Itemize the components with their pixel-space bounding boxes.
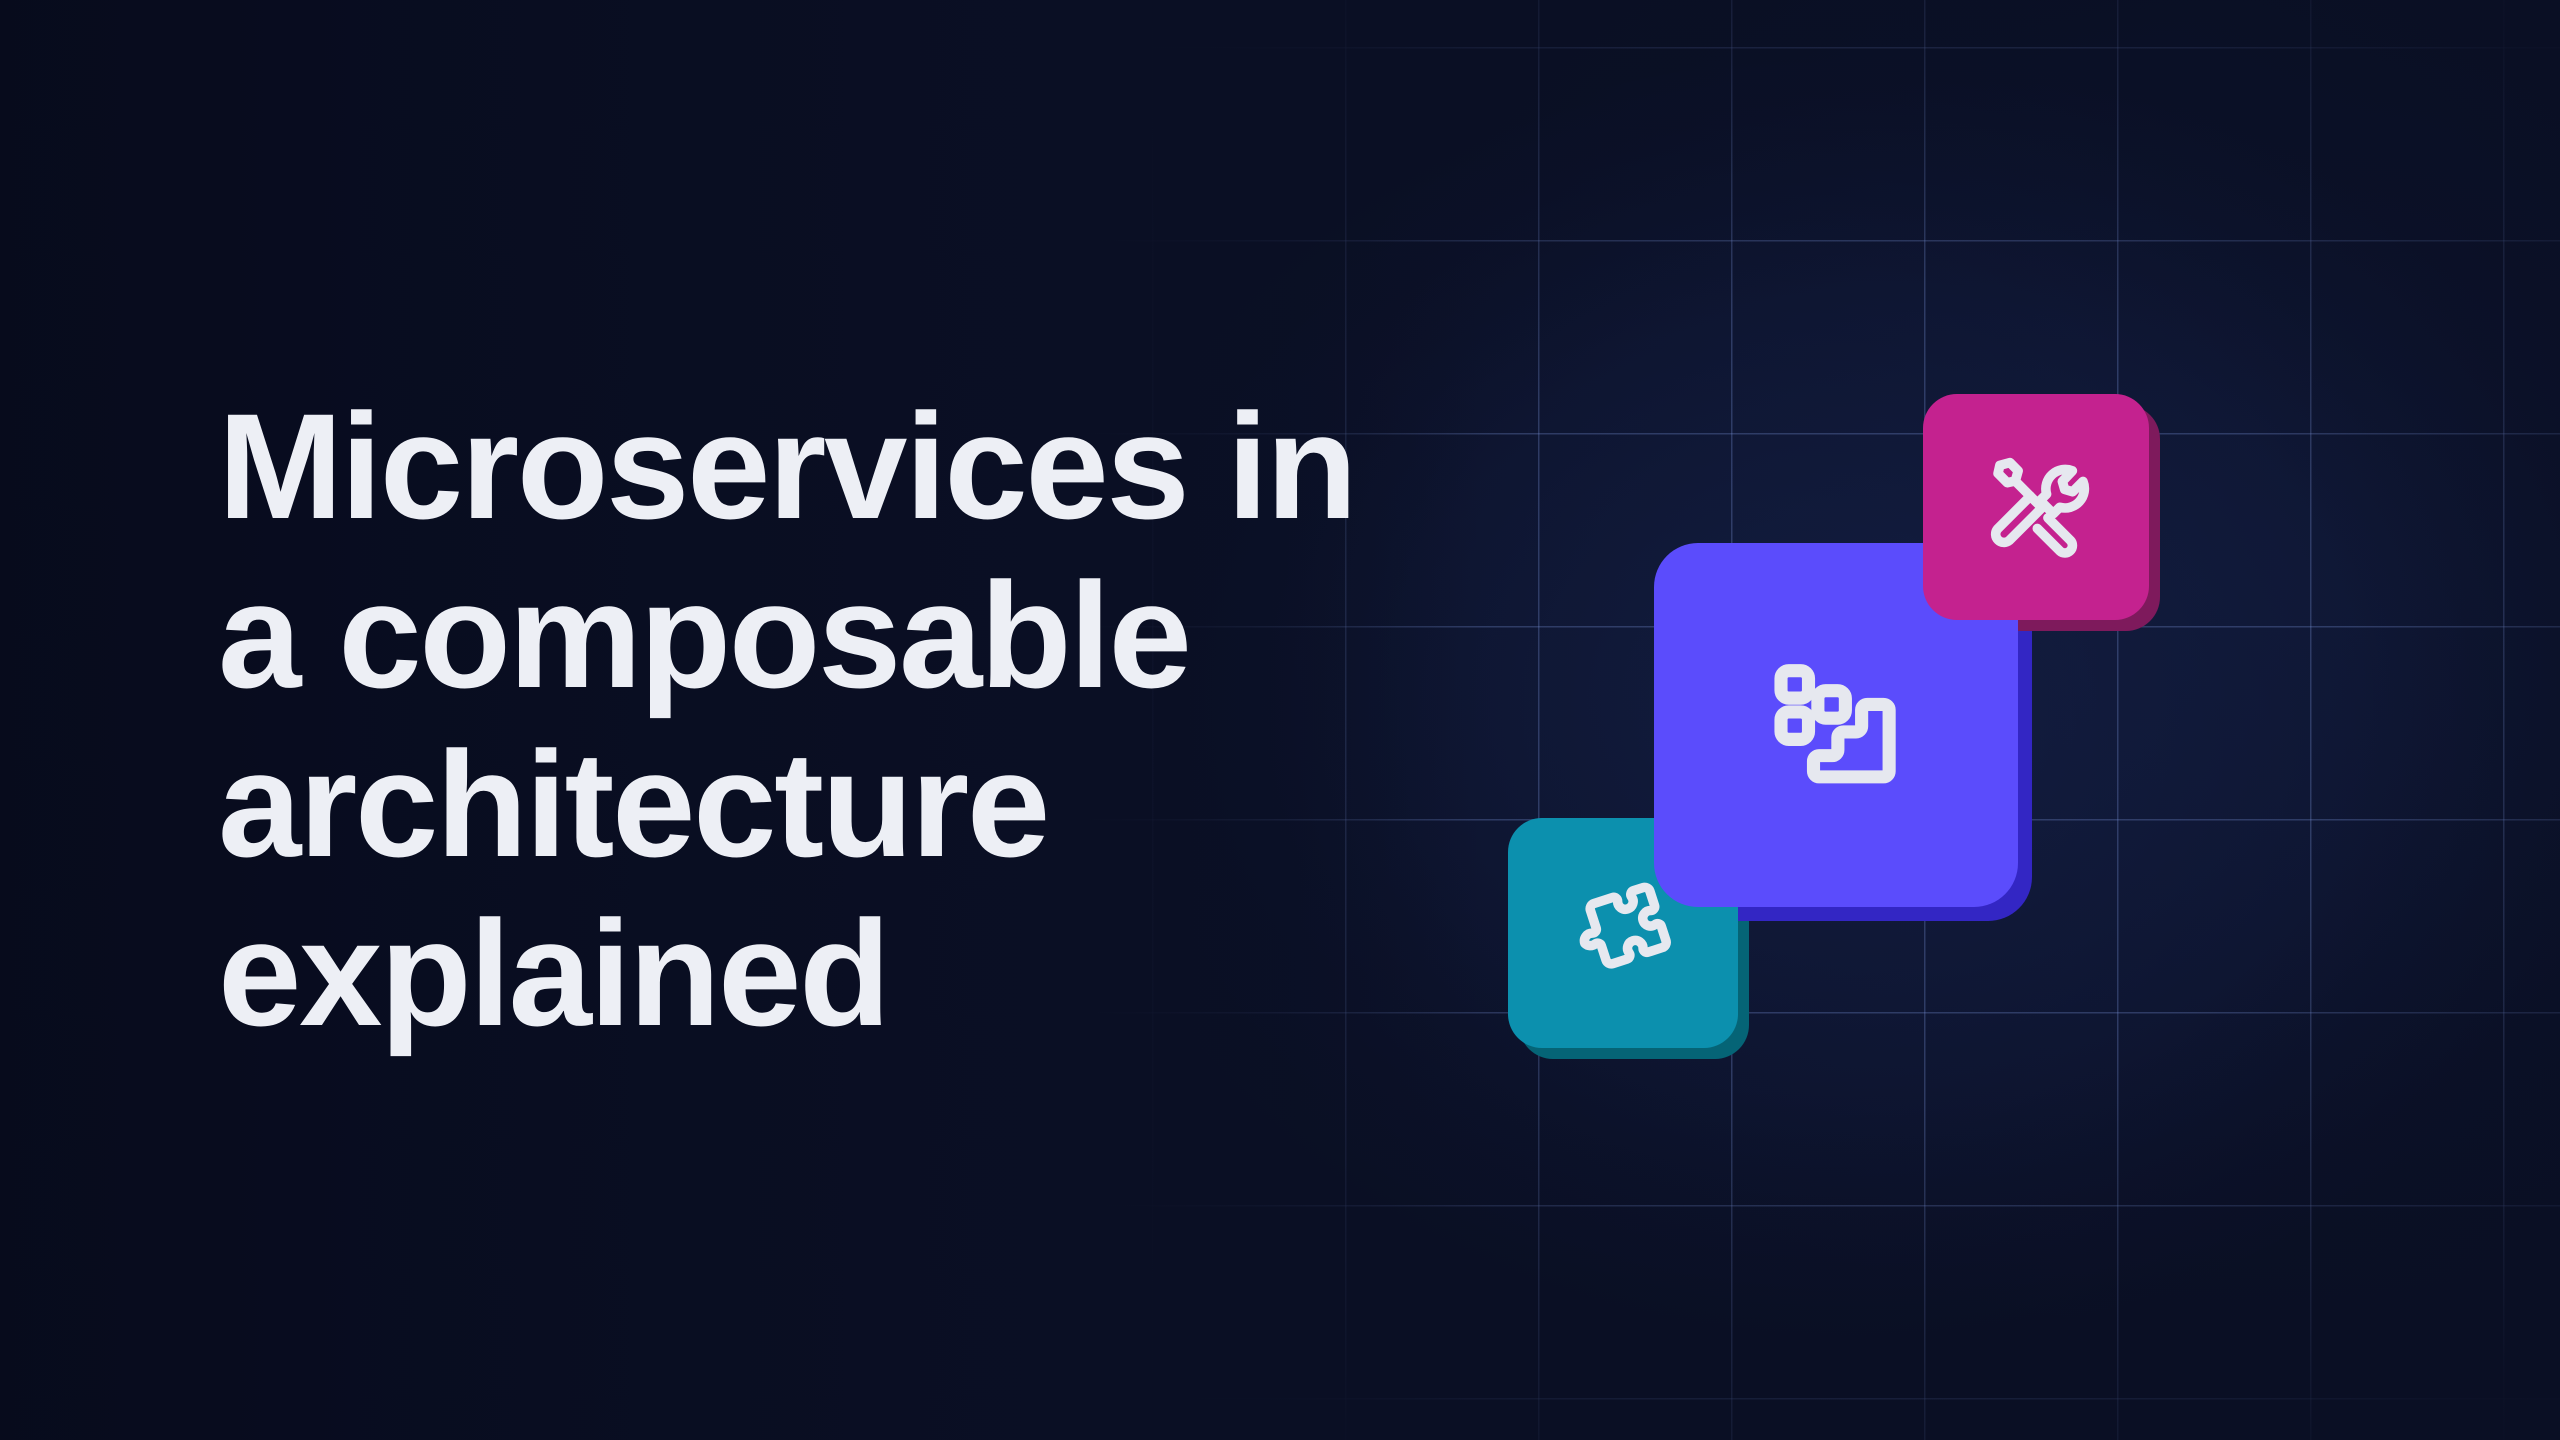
card-tools [1923, 394, 2149, 620]
card-tools-face [1923, 394, 2149, 620]
modular-blocks-icon [1761, 650, 1911, 800]
tools-wrench-screwdriver-icon [1974, 445, 2098, 569]
hero-banner: Microservices in a composable architectu… [0, 0, 2560, 1440]
composable-blocks-illustration [0, 0, 2560, 1440]
